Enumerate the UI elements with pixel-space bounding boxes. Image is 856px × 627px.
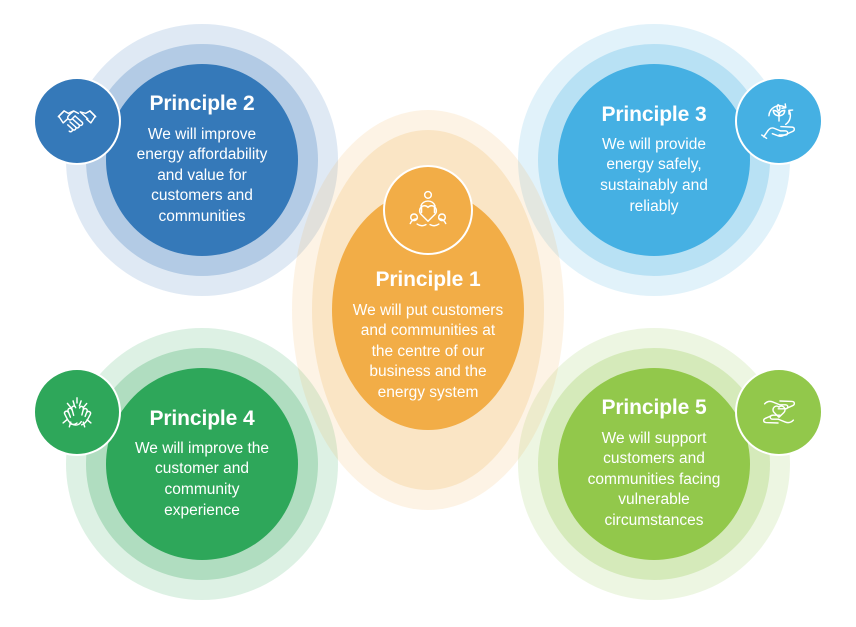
principle-3-description: We will provide energy safely, sustainab… <box>580 135 728 217</box>
principle-3-title: Principle 3 <box>601 103 706 126</box>
principle-5-icon-badge[interactable] <box>735 368 823 456</box>
handshake-icon <box>54 98 100 144</box>
clapping-hands-icon <box>54 389 100 435</box>
principle-3-circle[interactable]: Principle 3 We will provide energy safel… <box>558 64 750 256</box>
principle-2-description: We will improve energy affordability and… <box>126 125 278 228</box>
principle-1-title: Principle 1 <box>375 268 480 291</box>
principle-4-circle[interactable]: Principle 4 We will improve the customer… <box>106 368 298 560</box>
principle-2-title: Principle 2 <box>149 92 254 115</box>
principle-4-title: Principle 4 <box>149 407 254 430</box>
principle-4-icon-badge[interactable] <box>33 368 121 456</box>
principle-1-icon-badge[interactable] <box>383 165 473 255</box>
principle-5-description: We will support customers and communitie… <box>574 429 734 532</box>
principles-diagram: Principle 2 We will improve energy affor… <box>0 0 856 627</box>
principle-2-icon-badge[interactable] <box>33 77 121 165</box>
community-heart-icon <box>403 185 453 235</box>
principle-1-description: We will put customers and communities at… <box>350 301 506 404</box>
hands-holding-heart-icon <box>756 389 802 435</box>
principle-5-title: Principle 5 <box>601 396 706 419</box>
principle-2-circle[interactable]: Principle 2 We will improve energy affor… <box>106 64 298 256</box>
principle-4-description: We will improve the customer and communi… <box>126 439 278 521</box>
principle-5-circle[interactable]: Principle 5 We will support customers an… <box>558 368 750 560</box>
principle-3-icon-badge[interactable] <box>735 77 823 165</box>
hand-plant-recycle-icon <box>756 98 802 144</box>
